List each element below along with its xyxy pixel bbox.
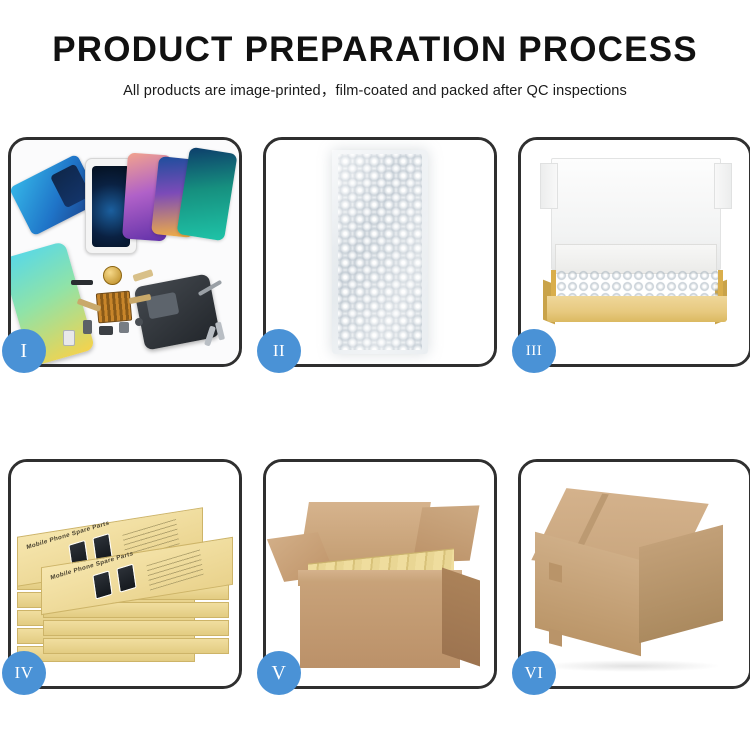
step-card-6[interactable]: VI: [518, 459, 750, 689]
step-card-1[interactable]: I: [8, 137, 242, 367]
step-badge-2: II: [257, 329, 301, 373]
bubble-wrap-sleeve: [332, 150, 428, 354]
page-header: PRODUCT PREPARATION PROCESS All products…: [0, 0, 750, 100]
part-sim-tray: [63, 330, 75, 346]
bubble-wrapped-contents: [551, 270, 723, 298]
carton-tape-mark-top: [549, 562, 562, 582]
step-badge-3: III: [512, 329, 556, 373]
step-badge-1: I: [2, 329, 46, 373]
part-button: [83, 320, 92, 334]
part-screwdriver-2: [215, 322, 225, 341]
part-bracket: [119, 322, 129, 333]
box-phone-window-1: [92, 570, 112, 599]
step-card-2[interactable]: II: [263, 137, 497, 367]
box-phone-window-2: [116, 564, 136, 593]
step-image-boxed-stack: Mobile Phone Spare Parts Mobile Phone Sp…: [11, 462, 239, 686]
page-subtitle: All products are image-printed，film-coat…: [0, 79, 750, 100]
carton-side-panel: [442, 567, 480, 666]
box-spec-text-lines: [146, 549, 203, 590]
stacked-box: [43, 620, 229, 636]
part-bar-dark: [71, 280, 93, 285]
plastic-sheen-overlay: [332, 150, 428, 354]
process-steps-grid: I II III: [8, 137, 742, 741]
page-title: PRODUCT PREPARATION PROCESS: [0, 32, 750, 69]
step-card-3[interactable]: III: [518, 137, 750, 367]
step-image-carton-filled: [266, 462, 494, 686]
speaker-part-icon: [103, 266, 122, 285]
step-image-carton-sealed: [521, 462, 749, 686]
step-image-inner-box: [521, 140, 749, 364]
box-front-panel: [547, 296, 727, 322]
part-flex-cable-1: [132, 269, 153, 282]
stacked-box: [43, 638, 229, 654]
step-badge-6: VI: [512, 651, 556, 695]
carton-front-panel: [300, 582, 460, 668]
carton-tape-mark-bottom: [549, 628, 562, 646]
connector-chip-icon: [96, 291, 132, 324]
step-image-product-parts: [11, 140, 239, 364]
part-camera: [99, 326, 113, 335]
carton-drop-shadow: [541, 660, 721, 672]
step-card-5[interactable]: V: [263, 459, 497, 689]
box-stack: Mobile Phone Spare Parts Mobile Phone Sp…: [15, 478, 239, 678]
part-screw-head: [135, 318, 143, 326]
step-image-bubble-wrap: [266, 140, 494, 364]
step-card-4[interactable]: Mobile Phone Spare Parts Mobile Phone Sp…: [8, 459, 242, 689]
step-badge-5: V: [257, 651, 301, 695]
step-badge-4: IV: [2, 651, 46, 695]
